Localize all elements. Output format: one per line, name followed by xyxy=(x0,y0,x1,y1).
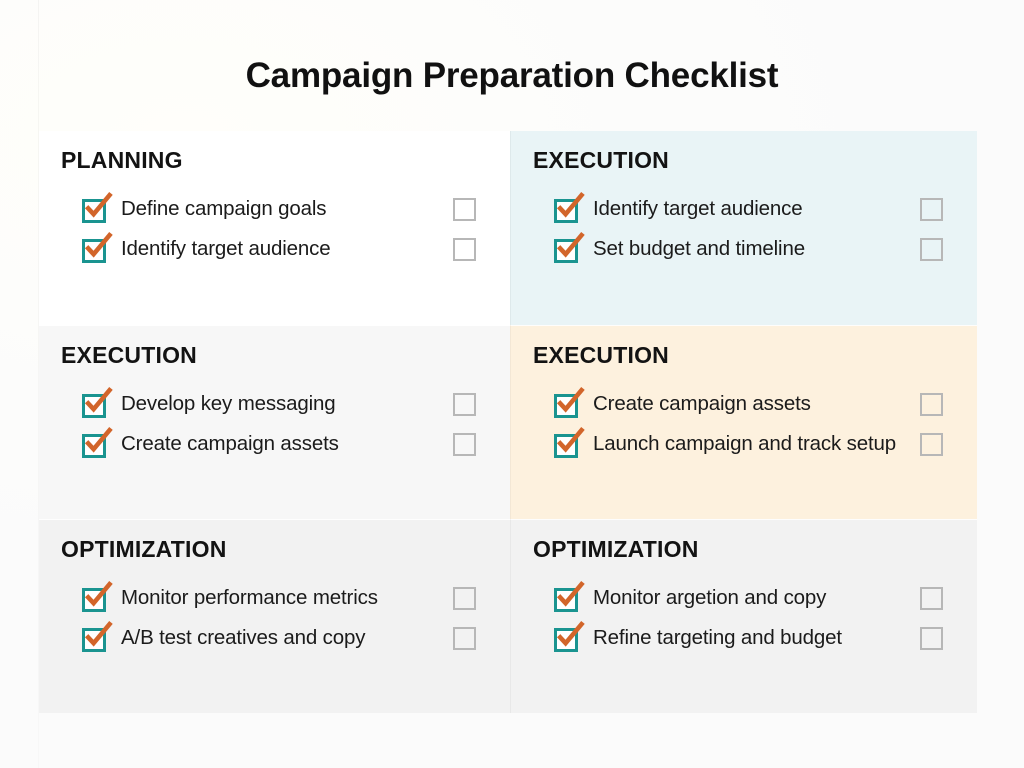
checkbox-checked-icon[interactable] xyxy=(82,391,109,418)
checkbox-checked-icon[interactable] xyxy=(82,431,109,458)
checklist-panel-execution-left-mid: EXECUTIONDevelop key messagingCreate cam… xyxy=(39,325,510,519)
panel-heading: PLANNING xyxy=(61,148,488,173)
checkbox-empty-icon[interactable] xyxy=(920,627,943,650)
checklist-item-label: Identify target audience xyxy=(121,239,331,260)
checkbox-checked-icon[interactable] xyxy=(82,625,109,652)
panel-item-list: Monitor argetion and copyRefine targetin… xyxy=(533,578,955,658)
checklist-item[interactable]: Develop key messaging xyxy=(61,384,488,424)
checklist-item[interactable]: Refine targeting and budget xyxy=(533,618,955,658)
checkbox-checked-icon[interactable] xyxy=(554,196,581,223)
checklist-item[interactable]: Identify target audience xyxy=(533,189,955,229)
checklist-item-label: Launch campaign and track setup xyxy=(593,434,896,455)
checklist-item[interactable]: Define campaign goals xyxy=(61,189,488,229)
checkbox-checked-icon[interactable] xyxy=(82,585,109,612)
checkbox-empty-icon[interactable] xyxy=(920,433,943,456)
checkbox-empty-icon[interactable] xyxy=(920,238,943,261)
checkbox-checked-icon[interactable] xyxy=(554,391,581,418)
checkbox-empty-icon[interactable] xyxy=(453,198,476,221)
checkbox-empty-icon[interactable] xyxy=(453,433,476,456)
checklist-panel-execution-right-mid: EXECUTIONCreate campaign assetsLaunch ca… xyxy=(510,325,977,519)
checklist-item-label: Refine targeting and budget xyxy=(593,628,842,649)
checkbox-checked-icon[interactable] xyxy=(554,236,581,263)
checkbox-checked-icon[interactable] xyxy=(82,196,109,223)
page-title: Campaign Preparation Checklist xyxy=(0,56,1024,96)
panel-item-list: Identify target audienceSet budget and t… xyxy=(533,189,955,269)
checklist-item[interactable]: Monitor argetion and copy xyxy=(533,578,955,618)
panel-item-list: Define campaign goalsIdentify target aud… xyxy=(61,189,488,269)
checkbox-empty-icon[interactable] xyxy=(920,587,943,610)
checkbox-empty-icon[interactable] xyxy=(453,627,476,650)
panel-heading: OPTIMIZATION xyxy=(61,537,488,562)
panel-heading: EXECUTION xyxy=(533,148,955,173)
checklist-item[interactable]: A/B test creatives and copy xyxy=(61,618,488,658)
checklist-item[interactable]: Identify target audience xyxy=(61,229,488,269)
checklist-panel-execution-right-top: EXECUTIONIdentify target audienceSet bud… xyxy=(510,131,977,325)
panel-item-list: Create campaign assetsLaunch campaign an… xyxy=(533,384,955,464)
checklist-item-label: Define campaign goals xyxy=(121,199,326,220)
checklist-item[interactable]: Create campaign assets xyxy=(533,384,955,424)
checklist-item-label: Create campaign assets xyxy=(121,434,339,455)
checklist-item-label: Develop key messaging xyxy=(121,394,336,415)
checklist-item-label: A/B test creatives and copy xyxy=(121,628,365,649)
panel-item-list: Monitor performance metricsA/B test crea… xyxy=(61,578,488,658)
panel-heading: EXECUTION xyxy=(533,343,955,368)
checklist-item[interactable]: Set budget and timeline xyxy=(533,229,955,269)
checkbox-checked-icon[interactable] xyxy=(554,585,581,612)
checklist-item[interactable]: Monitor performance metrics xyxy=(61,578,488,618)
checkbox-empty-icon[interactable] xyxy=(920,393,943,416)
checklist-panel-optimization-right-bottom: OPTIMIZATIONMonitor argetion and copyRef… xyxy=(510,519,977,713)
panel-item-list: Develop key messagingCreate campaign ass… xyxy=(61,384,488,464)
checklist-panel-optimization-left-bottom: OPTIMIZATIONMonitor performance metricsA… xyxy=(39,519,510,713)
checkbox-empty-icon[interactable] xyxy=(453,393,476,416)
checklist-item-label: Set budget and timeline xyxy=(593,239,805,260)
checkbox-checked-icon[interactable] xyxy=(82,236,109,263)
checklist-grid: PLANNINGDefine campaign goalsIdentify ta… xyxy=(39,131,977,713)
panel-heading: OPTIMIZATION xyxy=(533,537,955,562)
checklist-item-label: Monitor performance metrics xyxy=(121,588,378,609)
panel-heading: EXECUTION xyxy=(61,343,488,368)
checklist-item-label: Create campaign assets xyxy=(593,394,811,415)
checkbox-empty-icon[interactable] xyxy=(453,238,476,261)
checklist-item-label: Monitor argetion and copy xyxy=(593,588,826,609)
checklist-panel-planning-left: PLANNINGDefine campaign goalsIdentify ta… xyxy=(39,131,510,325)
checklist-item-label: Identify target audience xyxy=(593,199,803,220)
checkbox-checked-icon[interactable] xyxy=(554,431,581,458)
checkbox-empty-icon[interactable] xyxy=(920,198,943,221)
checklist-item[interactable]: Launch campaign and track setup xyxy=(533,424,955,464)
checkbox-checked-icon[interactable] xyxy=(554,625,581,652)
checklist-item[interactable]: Create campaign assets xyxy=(61,424,488,464)
checkbox-empty-icon[interactable] xyxy=(453,587,476,610)
